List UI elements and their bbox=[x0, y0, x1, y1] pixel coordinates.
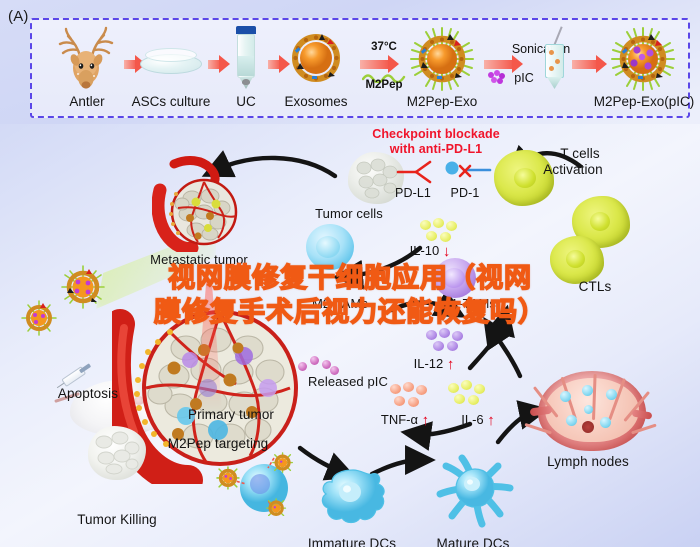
label-metastatic-tumor: Metastatic tumor bbox=[150, 252, 248, 267]
label-tumor-cells: Tumor cells bbox=[315, 206, 383, 221]
ctl-nucleus bbox=[590, 212, 610, 231]
label-m1-tams: M1-TAMs bbox=[440, 296, 496, 311]
cytokine-il-6: IL-6 ↑ bbox=[461, 412, 495, 429]
il-10-cytokine-dots bbox=[418, 218, 460, 246]
arrow-sonication-to-product bbox=[572, 60, 598, 69]
il-12-trend: ↑ bbox=[447, 356, 455, 373]
cytokine-il-10: IL-10 ↓ bbox=[410, 243, 451, 260]
arrow-culture-to-uc bbox=[208, 60, 221, 69]
tumor-cell-texture bbox=[352, 156, 400, 200]
cytokine-tnf-alpha: TNF-α ↑ bbox=[381, 412, 429, 429]
m2-tam-nucleus bbox=[316, 236, 340, 258]
pic-molecule-cluster bbox=[487, 70, 509, 84]
il-6-trend: ↑ bbox=[487, 412, 495, 429]
metastatic-tumor-illustration bbox=[152, 156, 242, 252]
panel-a-label: (A) bbox=[8, 8, 29, 25]
panel-a-caption-uc: UC bbox=[236, 94, 256, 109]
exosome-particle bbox=[60, 264, 106, 310]
lymph-node-illustration bbox=[538, 371, 646, 451]
panel-b-mechanism: Metastatic tumor Checkpoint blockade wit… bbox=[0, 124, 700, 547]
sonication-tube-illustration bbox=[543, 30, 567, 90]
mature-dc-illustration bbox=[434, 454, 516, 530]
figure-root: (A) (B) bbox=[0, 0, 700, 547]
panel-a-caption-m2pep-exo: M2Pep-Exo bbox=[407, 94, 478, 109]
label-activation: Activation bbox=[543, 162, 603, 177]
label-apoptosis: Apoptosis bbox=[58, 386, 118, 401]
petri-dish-illustration bbox=[140, 48, 202, 80]
il-12-name: IL-12 bbox=[414, 356, 444, 371]
il-10-name: IL-10 bbox=[410, 243, 440, 258]
arrow-m2pep-exo-to-sonication bbox=[484, 60, 514, 69]
panel-a-annotation-pic: pIC bbox=[514, 71, 533, 85]
m2pep-exosome-pic-illustration bbox=[610, 26, 676, 92]
label-ctls: CTLs bbox=[579, 279, 612, 294]
checkpoint-blockade-line1: Checkpoint blockade bbox=[372, 127, 500, 142]
m2pep-exosome-illustration bbox=[409, 26, 475, 92]
panel-a-caption-asc-culture: ASCs culture bbox=[132, 94, 211, 109]
ultracentrifuge-tube-illustration bbox=[235, 26, 257, 90]
label-primary-tumor: Primary tumor bbox=[188, 407, 274, 422]
il-6-name: IL-6 bbox=[461, 412, 483, 427]
label-m2pep-targeting: M2Pep targeting bbox=[168, 436, 269, 451]
immature-dc-illustration bbox=[316, 464, 390, 530]
tnf-alpha-name: TNF-α bbox=[381, 412, 418, 427]
arrow-uc-to-exosomes bbox=[268, 60, 281, 69]
label-mature-dcs: Mature DCs bbox=[436, 536, 509, 547]
panel-a-caption-m2pep-exo-pic: M2Pep-Exo(pIC) bbox=[594, 94, 695, 109]
label-lymph-nodes: Lymph nodes bbox=[547, 454, 629, 469]
panel-a-annotation-temperature: 37°C bbox=[371, 41, 397, 53]
il-10-trend: ↓ bbox=[443, 243, 451, 260]
panel-a-caption-exosomes: Exosomes bbox=[284, 94, 347, 109]
tnf-alpha-cytokine-dots bbox=[388, 382, 432, 410]
cytokine-il-12: IL-12 ↑ bbox=[414, 356, 455, 373]
exosome-illustration bbox=[288, 30, 344, 86]
arrow-exosomes-to-m2pep-exo bbox=[360, 60, 390, 69]
ctl-cell-illustration bbox=[550, 236, 604, 284]
t-cell-nucleus bbox=[514, 168, 536, 188]
panel-a-workflow: Antler ASCs culture UC bbox=[30, 18, 690, 118]
ctl-nucleus bbox=[566, 250, 585, 268]
il-12-cytokine-dots bbox=[424, 328, 466, 354]
label-t-cells: T cells bbox=[560, 146, 599, 161]
m1-tam-nucleus bbox=[443, 268, 465, 288]
arrow-antler-to-culture bbox=[124, 60, 137, 69]
t-cell-illustration bbox=[494, 150, 554, 206]
label-immature-dcs: Immature DCs bbox=[308, 536, 396, 547]
exosome-particle bbox=[20, 299, 58, 337]
label-checkpoint-blockade: Checkpoint blockade with anti-PD-L1 bbox=[372, 127, 500, 157]
tnf-alpha-trend: ↑ bbox=[422, 412, 430, 429]
label-pd-1: PD-1 bbox=[451, 186, 480, 200]
label-pd-l1: PD-L1 bbox=[395, 186, 431, 200]
panel-a-annotation-m2pep: M2Pep bbox=[365, 79, 402, 91]
il-6-cytokine-dots bbox=[446, 380, 490, 408]
m2pep-targeting-illustration bbox=[202, 450, 296, 516]
label-tumor-killing: Tumor Killing bbox=[77, 512, 157, 527]
apoptotic-cell-fragments bbox=[92, 430, 142, 476]
panel-a-caption-antler: Antler bbox=[69, 94, 104, 109]
deer-antler-illustration bbox=[54, 26, 120, 92]
